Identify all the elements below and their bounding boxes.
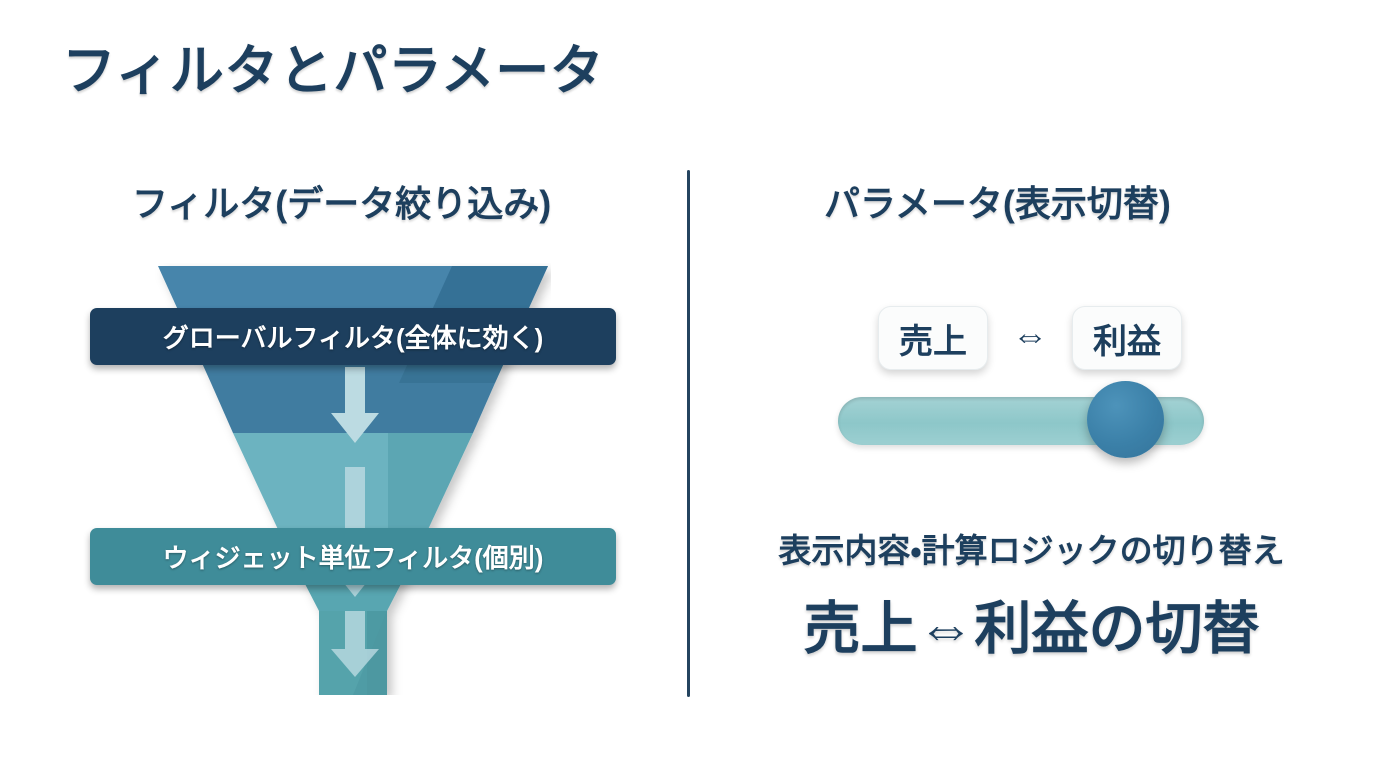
global-filter-bar-label: グローバルフィルタ(全体に効く)	[163, 318, 544, 355]
chip-profit[interactable]: 利益	[1072, 306, 1182, 370]
parameter-toggle-row: 売上 ⇔ 利益	[855, 305, 1205, 371]
swap-arrow-icon: ⇔	[1012, 318, 1048, 358]
page-title: フィルタとパラメータ	[62, 26, 604, 105]
right-column-heading: パラメータ(表示切替)	[824, 175, 1171, 227]
left-column-heading: フィルタ(データ絞り込み)	[132, 175, 551, 227]
parameter-slider[interactable]	[838, 397, 1204, 445]
parameter-caption-small: 表示内容・計算ロジックの切り替え	[687, 524, 1376, 572]
chip-sales[interactable]: 売上	[878, 306, 988, 370]
widget-filter-bar-label: ウィジェット単位フィルタ(個別)	[163, 538, 544, 575]
widget-filter-bar[interactable]: ウィジェット単位フィルタ(個別)	[90, 528, 616, 585]
parameter-caption-large: 売上⇔利益の切替	[687, 583, 1376, 665]
global-filter-bar[interactable]: グローバルフィルタ(全体に効く)	[90, 308, 616, 365]
slider-knob[interactable]	[1087, 381, 1164, 458]
slide-canvas: フィルタとパラメータ フィルタ(データ絞り込み)	[0, 0, 1376, 768]
